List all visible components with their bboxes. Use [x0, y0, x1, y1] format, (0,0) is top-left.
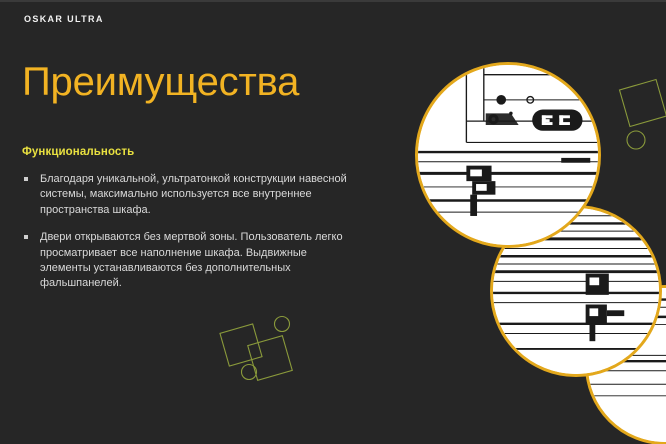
section-subheading: Функциональность	[22, 146, 134, 158]
bullet-list: Благодаря уникальной, ультратонкой конст…	[22, 172, 352, 304]
small-circle-top	[275, 317, 290, 332]
list-item-text: Двери открываются без мертвой зоны. Поль…	[40, 230, 352, 292]
decorative-shapes-edge	[614, 78, 666, 163]
decorative-shapes-cluster	[210, 310, 310, 400]
list-item: Благодаря уникальной, ультратонкой конст…	[22, 172, 352, 218]
brand-logo: OSKAR ULTRA	[24, 14, 104, 24]
edge-square	[619, 79, 666, 126]
bullet-square-icon	[24, 235, 28, 239]
rotated-square-right	[248, 336, 293, 381]
rotated-square-left	[220, 324, 262, 366]
page-title: Преимущества	[22, 60, 299, 105]
small-circle-bottom	[242, 365, 257, 380]
top-divider	[0, 0, 666, 2]
bullet-square-icon	[24, 177, 28, 181]
list-item: Двери открываются без мертвой зоны. Поль…	[22, 230, 352, 292]
product-detail-photo-1[interactable]	[415, 62, 601, 248]
list-item-text: Благодаря уникальной, ультратонкой конст…	[40, 172, 352, 218]
slide-root: OSKAR ULTRA Преимущества Функциональност…	[0, 0, 666, 444]
edge-circle	[627, 131, 645, 149]
